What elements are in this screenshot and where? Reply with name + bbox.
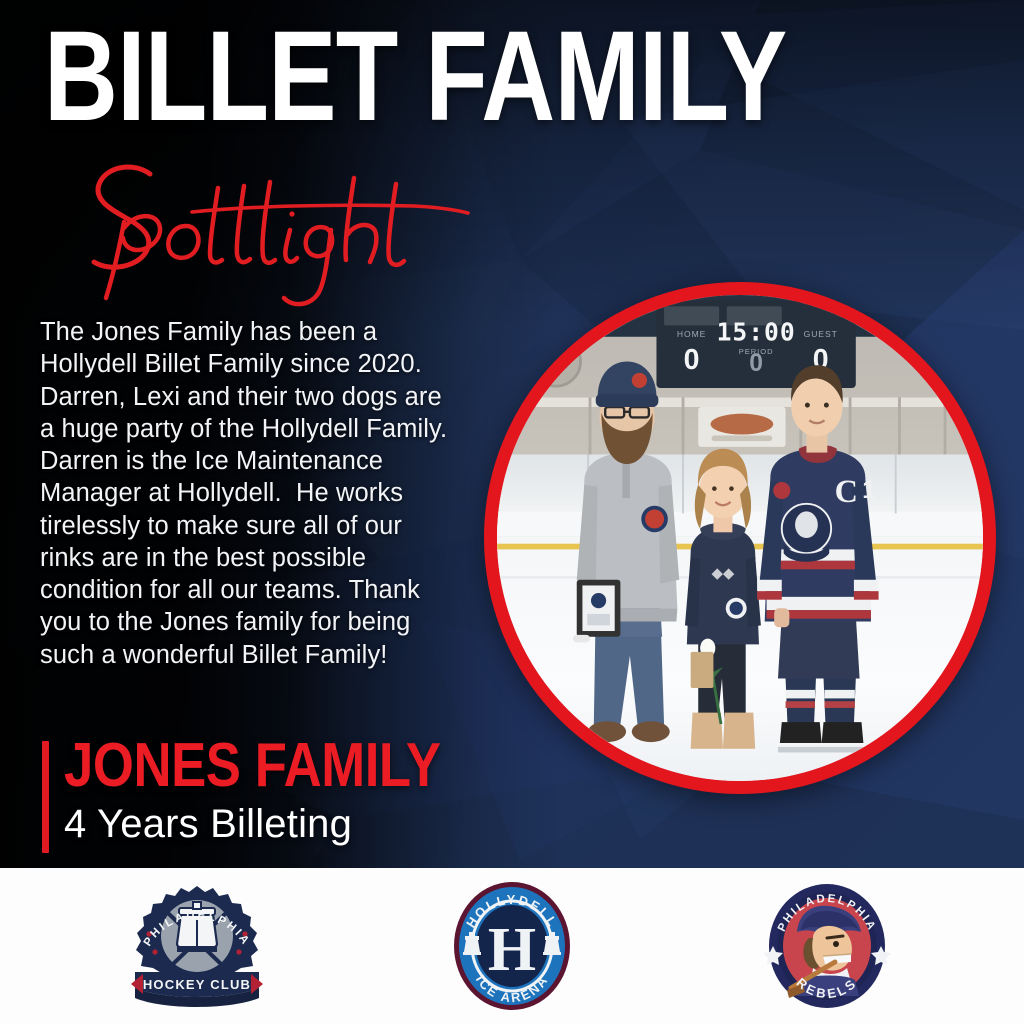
hollydell-ice-arena-icon: H HOLLYDELL ICE AREN: [436, 876, 588, 1016]
philadelphia-hockey-club-icon: HOCKEY CLUB PHILADELPHIA: [121, 876, 273, 1016]
poster: BILLET FAMILY: [0, 0, 1024, 1024]
family-photo-image: 15:00 HOME GUEST PERIOD 0 0 0: [497, 295, 983, 781]
logo-philadelphia-rebels[interactable]: PHILADELPHIA REBELS: [751, 876, 903, 1016]
spotlight-script-word: [62, 148, 482, 308]
logo-strip: HOCKEY CLUB PHILADELPHIA H: [0, 868, 1024, 1024]
rink-photo-illustration: 15:00 HOME GUEST PERIOD 0 0 0: [497, 295, 983, 781]
years-billeting: 4 Years Billeting: [64, 803, 512, 845]
red-accent-bar: [42, 741, 49, 853]
body-paragraph: The Jones Family has been a Hollydell Bi…: [40, 316, 460, 671]
spotlight-script-icon: [62, 148, 482, 308]
logo-hollydell-ice-arena[interactable]: H HOLLYDELL ICE AREN: [436, 876, 588, 1016]
hollydell-center-letter: H: [488, 916, 536, 984]
logo-philadelphia-hockey-club[interactable]: HOCKEY CLUB PHILADELPHIA: [121, 876, 273, 1016]
family-credit-block: JONES FAMILY 4 Years Billeting: [42, 735, 512, 845]
family-photo: 15:00 HOME GUEST PERIOD 0 0 0: [484, 282, 996, 794]
phc-bottom-text: HOCKEY CLUB: [143, 977, 251, 992]
page-title: BILLET FAMILY: [44, 16, 588, 138]
family-name: JONES FAMILY: [64, 735, 445, 797]
philadelphia-rebels-icon: PHILADELPHIA REBELS: [751, 876, 903, 1016]
